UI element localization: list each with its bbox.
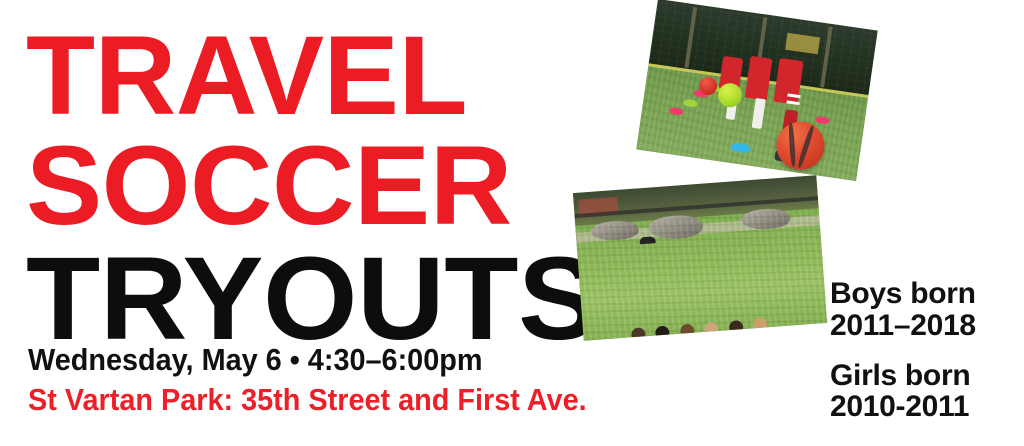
jersey-number: 13 [677,339,701,340]
player-jersey [676,334,702,340]
player-head [704,322,719,337]
player-jersey [725,331,750,341]
soccer-training-photo [636,0,877,181]
player-head [728,320,743,335]
age-group-girls: Girls born 2010-2011 [830,360,1020,424]
event-datetime-text: Wednesday, May 6 • 4:30–6:00pm [28,340,587,380]
girls-born-years: 2010-2011 [830,391,1020,423]
player-head [753,317,768,332]
event-details-block: Wednesday, May 6 • 4:30–6:00pm St Vartan… [28,340,629,419]
boys-born-years: 2011–2018 [830,310,1020,342]
player-head [655,326,670,341]
headline-line-travel: TRAVEL [26,22,632,130]
grass-texture [575,208,827,341]
headline-block: TRAVEL SOCCER TRYOUTS [26,22,626,356]
player-jersey [701,333,726,341]
team-huddle-photo: 12 13 [573,175,827,340]
age-group-boys: Boys born 2011–2018 [830,278,1020,342]
flyer-canvas: TRAVEL SOCCER TRYOUTS Wednesday, May 6 •… [0,0,1024,446]
player-head [680,324,695,339]
soccer-training-photo-content [636,0,877,181]
headline-line-soccer: SOCCER [26,132,638,240]
event-location-text: St Vartan Park: 35th Street and First Av… [28,380,587,420]
team-huddle-photo-content: 12 13 [573,175,827,340]
age-groups-block: Boys born 2011–2018 Girls born 2010-2011 [830,278,1020,423]
player-jersey [652,336,677,340]
girls-born-label: Girls born [830,360,1020,392]
player-jersey [749,328,775,341]
boys-born-label: Boys born [830,278,1020,310]
